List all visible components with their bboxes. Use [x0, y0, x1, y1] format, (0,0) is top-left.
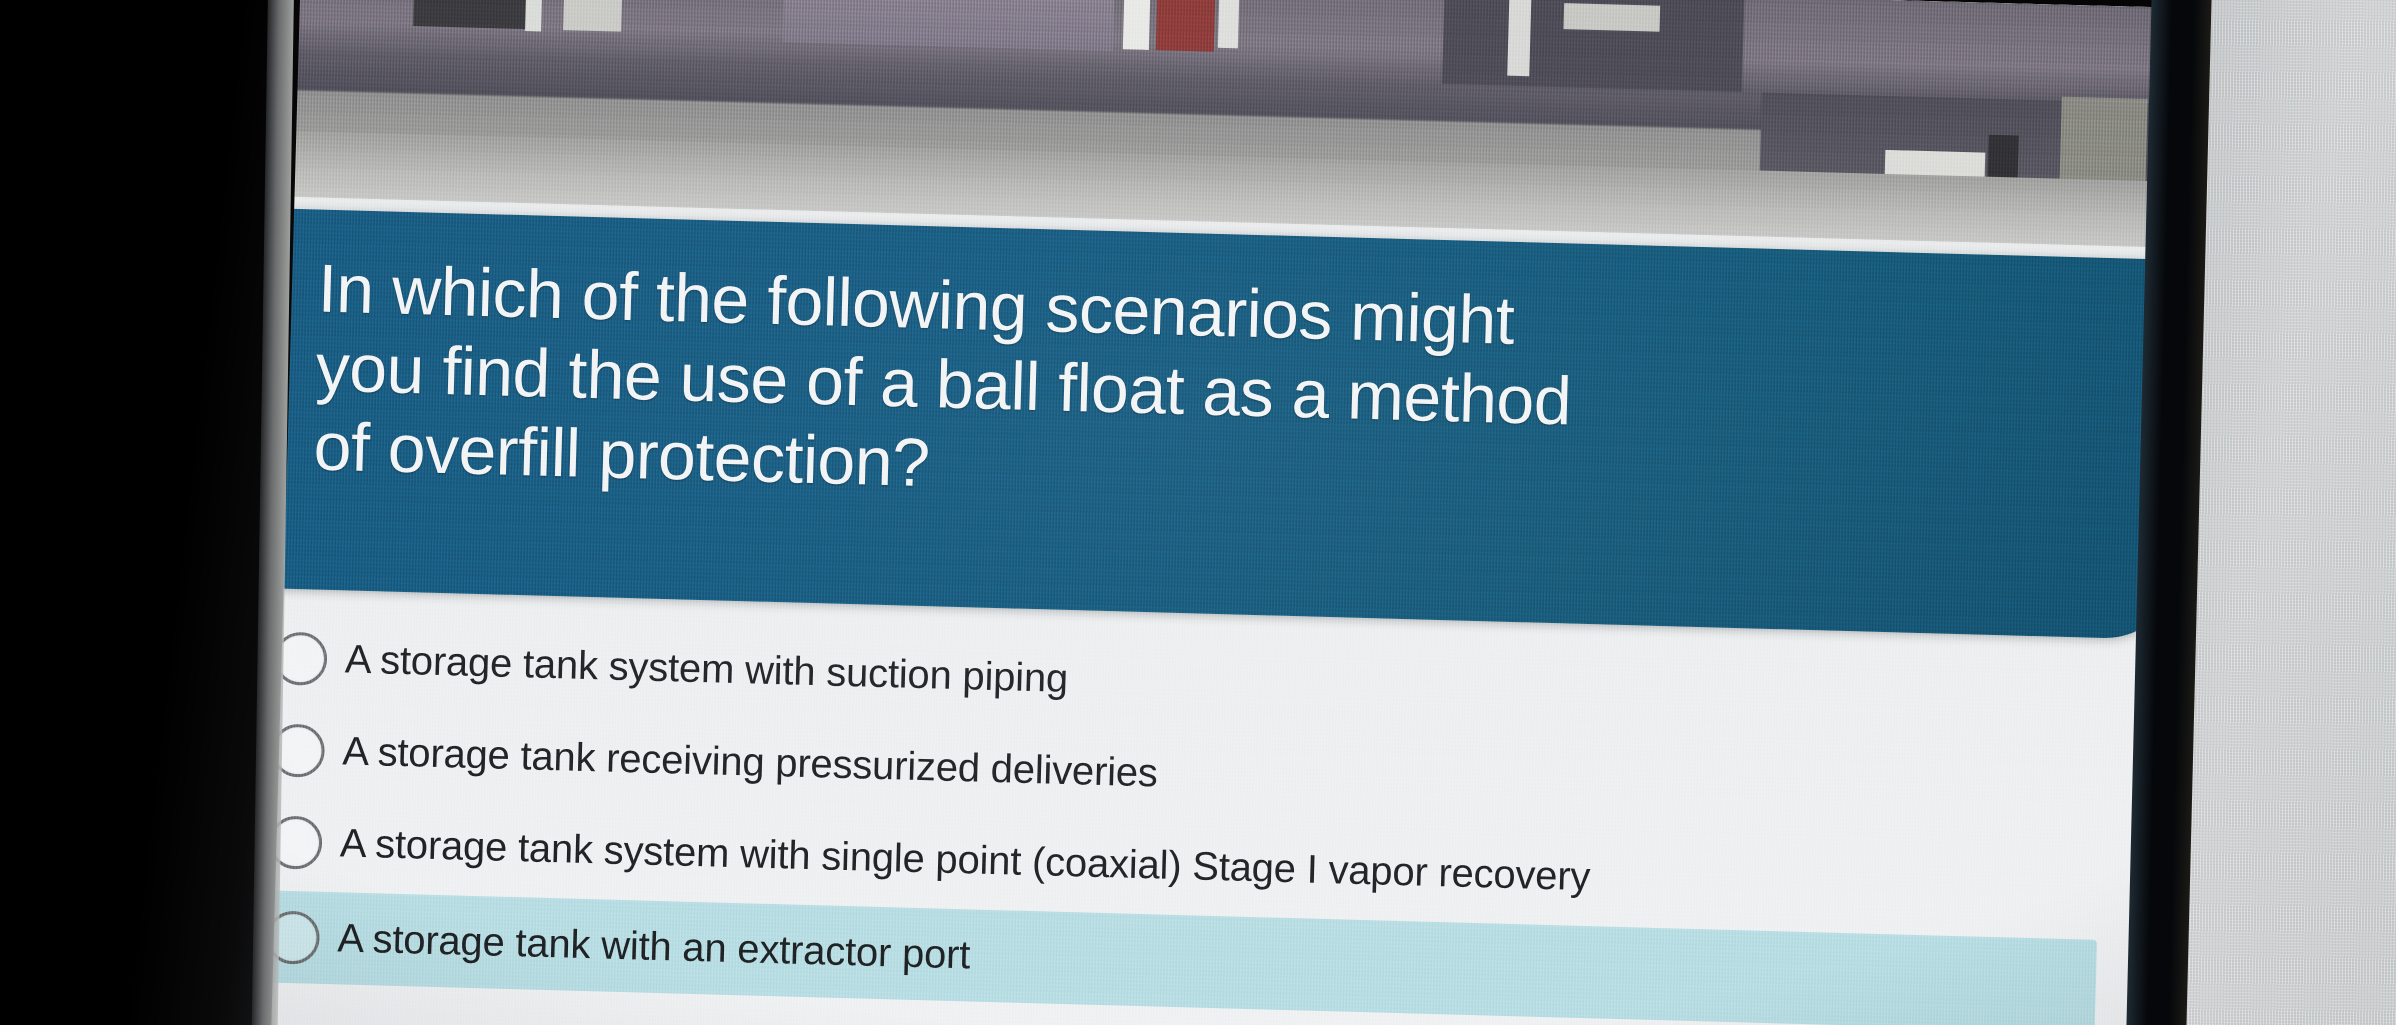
question-text: In which of the following scenarios migh…	[313, 250, 1609, 521]
monitor-photo-frame: In which of the following scenarios migh…	[0, 0, 2396, 1025]
quiz-page: In which of the following scenarios migh…	[234, 0, 2204, 1025]
hero-panel-shape	[1563, 3, 1660, 32]
answer-option-label-2: A storage tank receiving pressurized del…	[342, 729, 1158, 796]
hero-wall-shape	[783, 0, 1115, 51]
question-card: In which of the following scenarios migh…	[248, 208, 2188, 640]
hero-pole-shape	[525, 0, 543, 31]
hero-post-shape	[1123, 0, 1151, 50]
quiz-body: In which of the following scenarios migh…	[234, 196, 2198, 1025]
answer-options-list: A storage tank system with suction pipin…	[237, 614, 2176, 1025]
hero-post2-shape	[1218, 0, 1240, 48]
answer-option-label-1: A storage tank system with suction pipin…	[344, 637, 1068, 702]
answer-option-label-3: A storage tank system with single point …	[339, 821, 1590, 900]
hero-building-shape	[413, 0, 535, 29]
answer-option-label-4: A storage tank with an extractor port	[337, 916, 971, 978]
hero-column-shape	[1507, 0, 1531, 76]
hero-red-truck-shape	[1156, 0, 1216, 52]
monitor-screen: In which of the following scenarios migh…	[234, 0, 2204, 1025]
hero-sign-shape	[563, 0, 622, 32]
adjacent-panel	[2175, 0, 2396, 1025]
adjacent-panel-texture	[2175, 0, 2396, 1025]
